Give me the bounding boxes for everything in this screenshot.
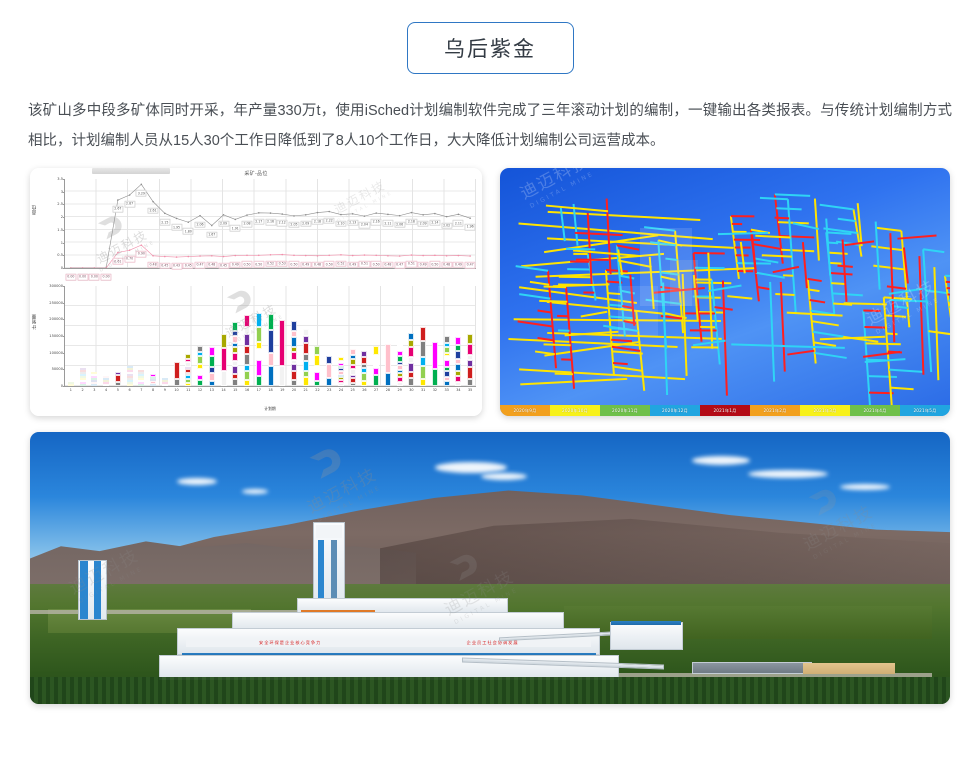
bar-stack[interactable] [174,362,180,386]
bar-segment [408,378,414,386]
bar-segment [361,357,367,364]
bar-segment [303,336,309,343]
bar-stack[interactable] [221,334,227,386]
data-label: 0.50 [288,261,299,268]
bar-segment [467,334,473,344]
x-axis-tick: 18 [268,388,272,392]
bar-stack[interactable] [127,368,133,386]
bar-segment [303,329,309,336]
bar-segment [467,360,473,368]
bar-stack[interactable] [91,385,97,386]
x-axis-tick: 32 [433,388,437,392]
x-axis-tick: 25 [351,388,355,392]
quantity-axis-label: 计划量 [32,314,38,329]
x-axis-tick: 13 [210,388,214,392]
bar-stack[interactable] [303,329,309,386]
x-axis-tick: 33 [444,388,448,392]
bar-segment [244,315,250,326]
bar-segment [256,349,262,360]
bar-segment [174,379,180,386]
bar-segment [314,381,320,386]
page-root: 乌后紫金 该矿山多中段多矿体同时开采，年产量330万t，使用iSched计划编制… [0,0,980,758]
bar-segment [268,330,274,353]
bar-segment [279,366,285,386]
data-label: 2.11 [453,220,464,227]
bar-segment [138,384,144,386]
bar-segment [244,354,250,365]
y-axis-tick: 3.5 [57,177,63,181]
ore-stockpile-building [803,663,895,674]
data-label: 0.50 [371,261,382,268]
satellite-roof [611,621,681,625]
data-label: 2.08 [241,221,252,228]
data-label: 0.48 [382,261,393,268]
y-axis-tick: 0 [61,266,63,270]
bar-segment [314,355,320,366]
tree-line [30,677,950,704]
x-axis-tick: 8 [152,388,154,392]
x-axis-tick: 29 [397,388,401,392]
data-label: 2.09 [300,221,311,228]
grade-plot-area: 00.511.522.533.50.000.000.000.002.672.87… [64,179,476,269]
bar-segment [91,384,97,386]
mine-site-photo: 安全环保是企业核心竞争力 企业员工社会协调发展 迪迈科技 DIGI [30,432,950,704]
bar-segment [467,379,473,386]
bar-stack[interactable] [373,346,379,386]
bar-segment [221,348,227,372]
bar-segment [232,322,238,331]
bar-stack[interactable] [232,322,238,386]
bar-segment [256,327,262,342]
data-label: 0.49 [230,261,241,268]
bar-stack[interactable] [338,357,344,386]
bar-segment [150,384,156,386]
bar-segment [256,342,262,349]
cloud [481,473,527,480]
grade-axis-label: 品位 [32,205,38,215]
bar-segment [373,368,379,375]
data-label: 0.61 [112,258,123,265]
bar-stack[interactable] [326,356,332,386]
data-label: 2.87 [124,201,135,208]
bar-segment [162,384,168,386]
x-axis-tick: 22 [315,388,319,392]
bar-segment [221,334,227,348]
bar-stack[interactable] [467,334,473,386]
bar-segment [385,344,391,373]
bar-stack[interactable] [244,315,250,386]
bar-segment [455,382,461,386]
x-axis-tick: 27 [374,388,378,392]
bar-segment [303,361,309,371]
x-axis-tick: 3 [93,388,95,392]
data-label: 2.61 [148,207,159,214]
bar-segment [444,336,450,343]
bar-stack[interactable] [408,333,414,386]
y-axis-tick: 50000 [52,367,63,371]
bar-segment [338,383,344,386]
data-label: 0.49 [300,261,311,268]
description-paragraph: 该矿山多中段多矿体同时开采，年产量330万t，使用iSched计划编制软件完成了… [28,96,952,156]
x-axis-tick: 12 [198,388,202,392]
data-label: 0.48 [206,261,217,268]
bar-segment [350,383,356,386]
data-label: 0.50 [253,261,264,268]
bar-stack[interactable] [444,336,450,386]
bar-segment [303,343,309,354]
bar-segment [256,376,262,386]
x-axis-tick: 31 [421,388,425,392]
data-label: 2.09 [218,221,229,228]
data-label: 2.18 [312,218,323,225]
data-label: 0.50 [324,261,335,268]
bar-stack[interactable] [150,372,156,386]
x-axis-tick: 20 [292,388,296,392]
y-axis-tick: 0 [61,384,63,388]
data-label: 0.45 [218,262,229,269]
bar-segment [291,321,297,331]
data-label: 0.47 [194,262,205,269]
data-label: 2.02 [441,222,452,229]
data-label: 0.52 [335,260,346,267]
data-label: 2.10 [335,220,346,227]
chart-title: 采矿-品位 [30,170,482,177]
bar-segment [314,372,320,381]
legend-segment-8[interactable]: 2021年4月 [850,405,900,416]
data-label: 0.00 [65,274,76,281]
bar-segment [197,369,203,376]
bar-segment [268,353,274,366]
data-label: 0.50 [429,261,440,268]
model-card[interactable]: 迪迈科技 DIGITAL MINE 迪迈科技 DIGITAL MINE 2020… [500,168,950,416]
y-axis-tick: 2 [61,215,63,219]
bar-segment [373,346,379,355]
bar-segment [209,373,215,382]
y-axis-tick: 200000 [49,317,63,321]
x-axis-tick: 5 [117,388,119,392]
legend-segment-2[interactable]: 2020年10月 [550,405,600,416]
data-label: 1.67 [206,231,217,238]
bar-stack[interactable] [350,349,356,386]
data-label: 2.04 [359,222,370,229]
bar-segment [397,382,403,386]
bar-stack[interactable] [80,386,86,387]
media-top-row: 采矿-品位 品位 00.511.522.533.50.000.000.000.0… [30,168,950,416]
bar-segment [467,367,473,378]
data-label: 1.96 [465,224,476,231]
bar-stack[interactable] [197,346,203,386]
bar-segment [174,362,180,379]
three-d-mine-model[interactable]: 迪迈科技 DIGITAL MINE 迪迈科技 DIGITAL MINE 2020… [500,168,950,416]
bar-stack[interactable] [455,337,461,386]
data-label: 1.95 [171,224,182,231]
y-axis-tick: 2.5 [57,202,63,206]
data-label: 0.00 [101,274,112,281]
bar-segment [244,334,250,346]
data-label: 0.45 [183,262,194,269]
satellite-building [610,622,684,649]
bar-segment [209,347,215,356]
bar-stack[interactable] [103,382,109,386]
data-label: 2.16 [371,219,382,226]
x-axis-tick: 14 [221,388,225,392]
data-label: 2.67 [112,206,123,213]
bar-segment [185,383,191,386]
cloud [748,470,828,478]
bar-segment [432,342,438,369]
data-label: 2.16 [265,219,276,226]
wireframe-svg [500,168,950,405]
legend-segment-6[interactable]: 2021年2月 [750,405,800,416]
mining-plan-chart: 采矿-品位 品位 00.511.522.533.50.000.000.000.0… [30,168,482,416]
y-axis-tick: 3 [61,190,63,194]
bar-stack[interactable] [291,321,297,386]
bar-segment [373,375,379,386]
bar-segment [291,380,297,386]
data-label: 2.14 [429,219,440,226]
bar-segment [244,327,250,335]
x-axis-tick: 1 [70,388,72,392]
bar-segment [408,347,414,357]
bar-segment [232,379,238,386]
x-axis-tick: 4 [105,388,107,392]
legend-segment-4[interactable]: 2020年12月 [650,405,700,416]
y-axis-tick: 100000 [49,351,63,355]
bar-segment [256,313,262,327]
data-label: 0.00 [77,274,88,281]
cloud [242,489,268,494]
bar-segment [361,373,367,381]
bar-segment [420,357,426,366]
bar-segment [291,352,297,360]
headframe-tower-main [313,522,344,604]
bar-segment [444,381,450,387]
media-section: 采矿-品位 品位 00.511.522.533.50.000.000.000.0… [30,168,950,704]
data-label: 0.50 [241,261,252,268]
bar-segment [232,336,238,343]
page-title: 乌后紫金 [444,33,536,63]
bar-stack[interactable] [115,372,121,386]
bar-segment [455,351,461,359]
bar-segment [232,366,238,374]
bar-segment [303,354,309,361]
bar-stack[interactable] [268,314,274,386]
y-axis-tick: 1.5 [57,228,63,232]
bar-segment [291,371,297,380]
x-axis-tick: 9 [164,388,166,392]
bar-segment [408,363,414,372]
bar-stack[interactable] [420,327,426,386]
x-axis-tick: 6 [128,388,130,392]
data-label: 0.52 [265,260,276,267]
data-label: 0.00 [89,274,100,281]
bar-segment [291,337,297,347]
bar-segment [326,356,332,364]
y-axis-tick: 300000 [49,284,63,288]
timeline-legend[interactable]: 2020年9月2020年10月2020年11月2020年12月2021年1月20… [500,405,950,416]
bar-segment [80,384,86,386]
bar-segment [127,384,133,386]
bar-segment [244,371,250,380]
bar-segment [303,377,309,386]
data-label: 0.48 [148,261,159,268]
data-label: 2.06 [194,221,205,228]
legend-segment-5[interactable]: 2021年1月 [700,405,750,416]
bar-segment [373,355,379,368]
legend-segment-9[interactable]: 2021年5月 [900,405,950,416]
data-label: 2.15 [159,219,170,226]
data-label: 2.18 [406,218,417,225]
bar-segment [244,380,250,386]
bar-segment [326,364,332,378]
x-axis-tick: 28 [386,388,390,392]
bar-segment [420,341,426,357]
x-axis-tick: 34 [456,388,460,392]
data-label: 1.91 [230,225,241,232]
data-label: 2.06 [394,221,405,228]
legend-segment-3[interactable]: 2020年11月 [600,405,650,416]
bar-segment [467,344,473,354]
x-axis-tick: 7 [140,388,142,392]
y-axis-tick: 1 [61,241,63,245]
x-axis-tick: 24 [339,388,343,392]
bar-segment [68,384,74,386]
data-label: 2.17 [253,219,264,226]
cloud [435,462,507,473]
bar-stack[interactable] [256,313,262,386]
cloud [840,484,890,490]
x-axis-tick: 19 [280,388,284,392]
bar-segment [221,371,227,386]
data-label: 0.49 [418,261,429,268]
page-header: 乌后紫金 [0,0,980,74]
bar-segment [432,369,438,386]
bar-segment [256,360,262,376]
bar-segment [361,381,367,386]
x-axis-tick: 10 [174,388,178,392]
legend-segment-7[interactable]: 2021年3月 [800,405,850,416]
data-label: 0.70 [124,256,135,263]
x-axis-title: 计划期 [64,406,476,412]
bar-stack[interactable] [432,327,438,386]
bar-segment [455,364,461,371]
bar-stack[interactable] [279,320,285,386]
storage-shed [692,662,812,674]
bar-segment [103,384,109,386]
data-label: 0.43 [171,263,182,270]
bar-segment [420,327,426,340]
bar-segment [268,366,274,386]
data-label: 0.47 [465,262,476,269]
site-photo-card[interactable]: 安全环保是企业核心竞争力 企业员工社会协调发展 迪迈科技 DIGI [30,432,950,704]
chart-card[interactable]: 采矿-品位 品位 00.511.522.533.50.000.000.000.0… [30,168,482,416]
bar-stack[interactable] [138,370,144,386]
y-axis-tick: 250000 [49,301,63,305]
bar-segment [268,314,274,330]
bar-segment [432,327,438,342]
bar-segment [385,373,391,386]
data-label: 0.47 [394,262,405,269]
bar-segment [420,366,426,379]
bar-segment [115,382,121,386]
bar-segment [115,375,121,382]
data-label: 2.11 [382,220,393,227]
x-axis-tick: 30 [409,388,413,392]
data-label: 0.90 [136,251,147,258]
x-axis-tick: 11 [186,388,190,392]
grade-line-panel: 品位 00.511.522.533.50.000.000.000.002.672… [30,177,482,282]
bar-segment [314,346,320,355]
data-label: 0.53 [277,260,288,267]
x-axis-tick: 17 [257,388,261,392]
quantity-bar-panel: 计划量 050000100000150000200000250000300000… [30,284,482,400]
data-label: 3.29 [136,190,147,197]
data-label: 2.09 [418,221,429,228]
bar-stack[interactable] [314,346,320,386]
data-label: 2.05 [288,222,299,229]
bar-segment [455,337,461,345]
quantity-plot-area: 0500001000001500002000002500003000001234… [64,286,476,387]
data-label: 0.48 [312,261,323,268]
bar-segment [279,320,285,366]
x-axis-tick: 26 [362,388,366,392]
bar-stack[interactable] [162,381,168,386]
bar-segment [209,381,215,386]
bar-stack[interactable] [209,347,215,386]
bar-segment [361,351,367,358]
data-label: 2.13 [347,220,358,227]
bar-stack[interactable] [397,345,403,386]
x-axis-tick: 2 [82,388,84,392]
data-label: 2.12 [277,220,288,227]
page-title-pill: 乌后紫金 [407,22,574,74]
legend-segment-1[interactable]: 2020年9月 [500,405,550,416]
bar-segment [420,379,426,386]
data-label: 0.45 [159,262,170,269]
bar-segment [197,356,203,364]
data-label: 0.49 [453,261,464,268]
data-label: 0.51 [359,261,370,268]
x-axis-tick: 21 [304,388,308,392]
bar-segment [232,353,238,361]
bar-segment [209,356,215,367]
x-axis-tick: 35 [468,388,472,392]
bar-segment [197,380,203,386]
bar-segment [326,378,332,386]
banner-text-left: 安全环保是企业核心竞争力 [259,640,321,646]
y-axis-tick: 150000 [49,334,63,338]
x-axis-tick: 16 [245,388,249,392]
x-axis-tick: 15 [233,388,237,392]
data-label: 2.22 [324,217,335,224]
data-label: 0.51 [406,261,417,268]
bar-stack[interactable] [385,344,391,386]
data-label: 0.48 [441,261,452,268]
x-axis-tick: 23 [327,388,331,392]
bar-stack[interactable] [185,354,191,386]
bar-segment [408,333,414,340]
bar-segment [244,346,250,354]
data-label: 0.49 [347,261,358,268]
y-axis-tick: 0.5 [57,253,63,257]
data-label: 1.80 [183,228,194,235]
bar-stack[interactable] [361,351,367,386]
headframe-tower-left [78,560,107,620]
